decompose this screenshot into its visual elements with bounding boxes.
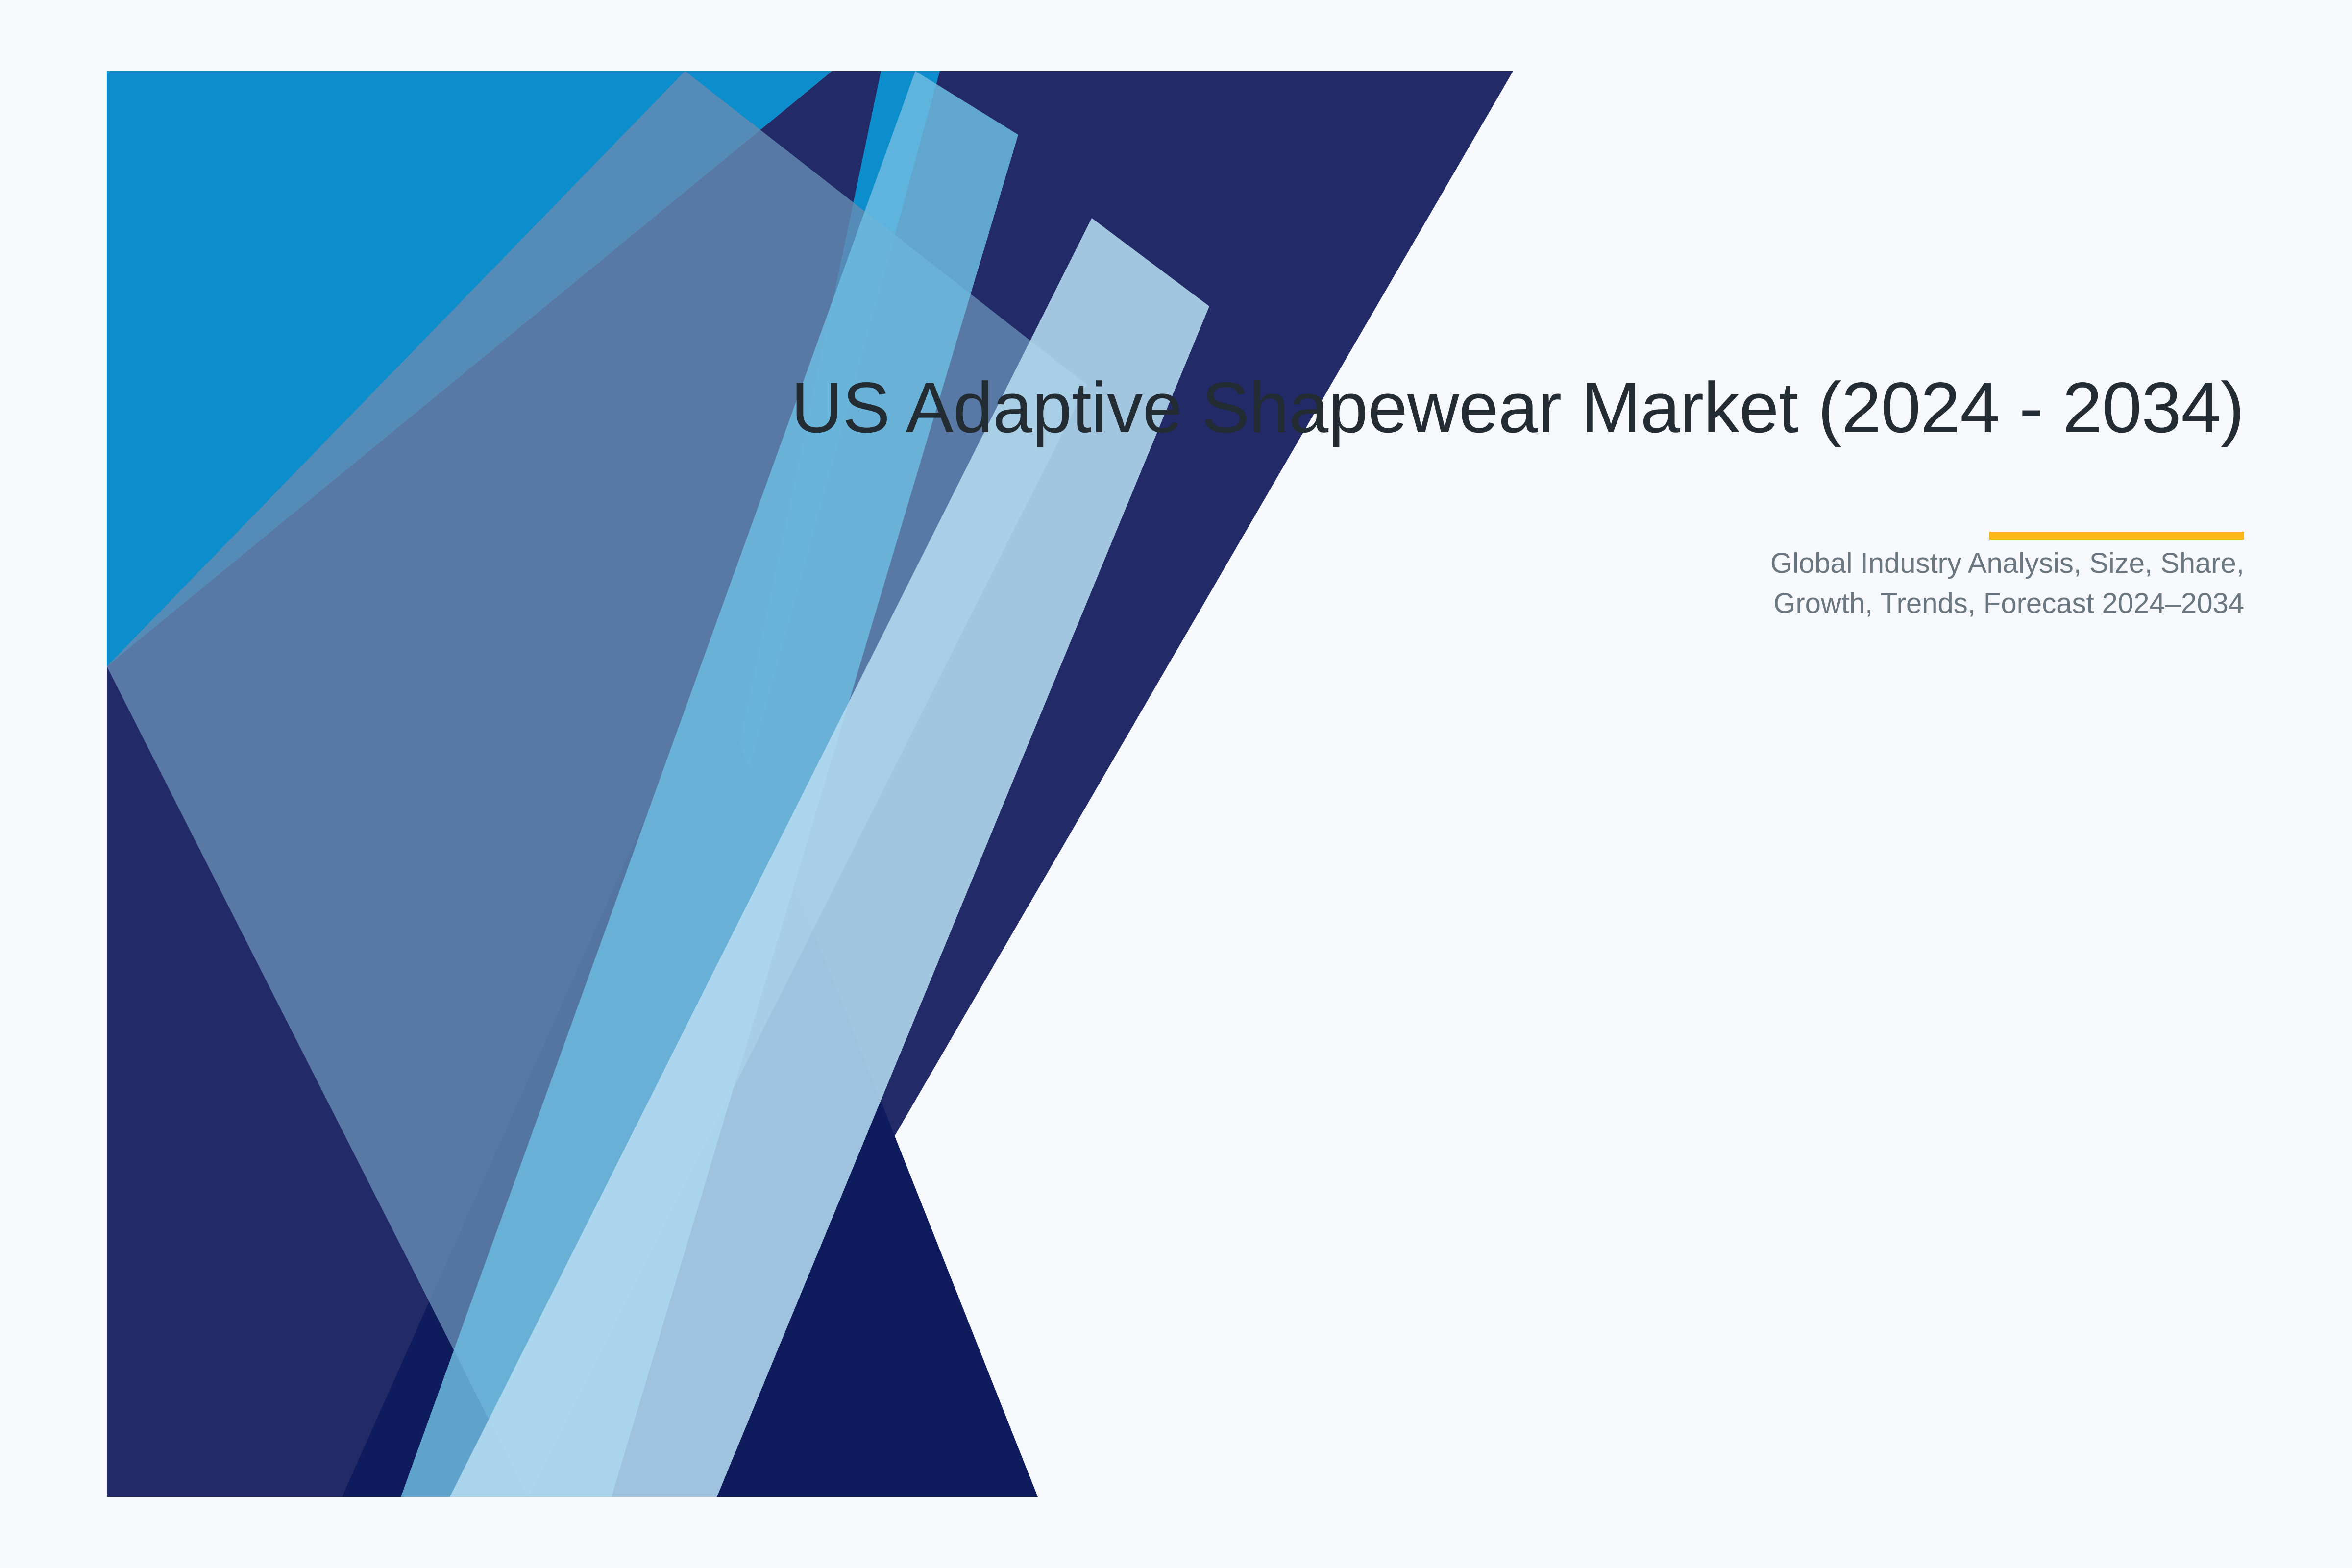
cover-text-block: US Adaptive Shapewear Market (2024 - 203…	[764, 363, 2244, 624]
abstract-geometric-cover-graphic	[107, 71, 1513, 1497]
title-wrapper: US Adaptive Shapewear Market (2024 - 203…	[764, 363, 2244, 453]
cover-page: US Adaptive Shapewear Market (2024 - 203…	[0, 0, 2352, 1568]
page-title: US Adaptive Shapewear Market (2024 - 203…	[764, 363, 2244, 453]
title-accent-underline	[1989, 532, 2244, 540]
